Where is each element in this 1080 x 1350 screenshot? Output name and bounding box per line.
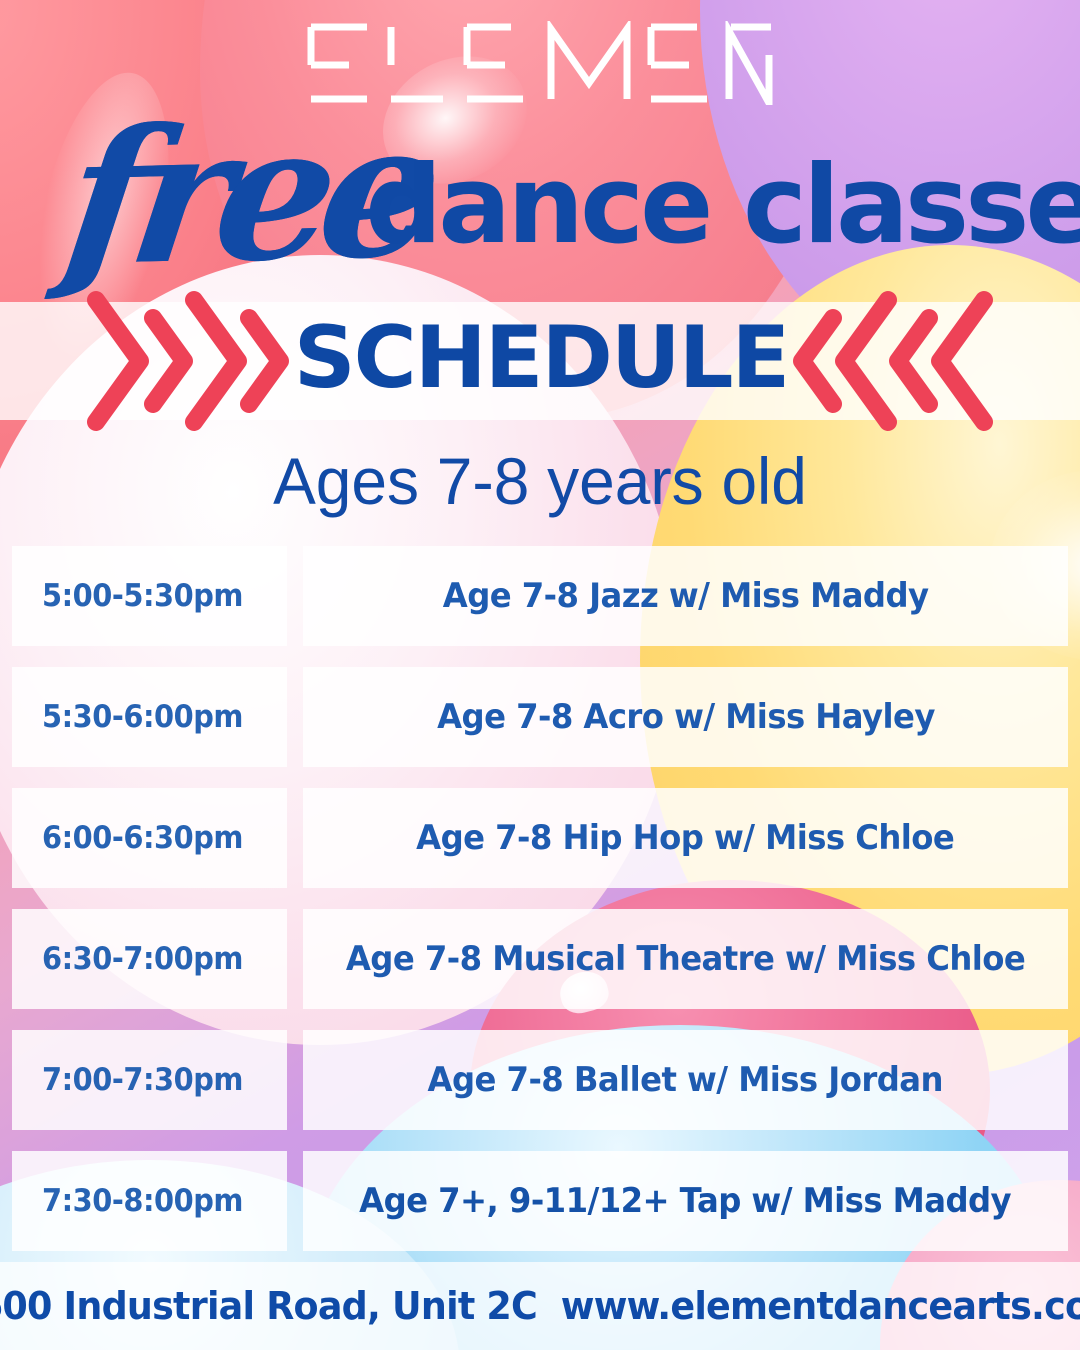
table-cell-time: 6:00-6:30pm [12, 788, 287, 888]
table-cell-time: 5:30-6:00pm [12, 667, 287, 767]
table-cell-class: Age 7-8 Jazz w/ Miss Maddy [303, 546, 1068, 646]
class-label: Age 7-8 Hip Hop w/ Miss Chloe [416, 818, 954, 858]
table-row: 6:00-6:30pm Age 7-8 Hip Hop w/ Miss Chlo… [0, 788, 1080, 888]
poster-canvas: free dance classes SCHEDULE [0, 0, 1080, 1350]
time-label: 7:00-7:30pm [42, 1062, 243, 1098]
class-label: Age 7-8 Acro w/ Miss Hayley [437, 697, 935, 737]
time-label: 7:30-8:00pm [42, 1183, 243, 1219]
table-row: 7:30-8:00pm Age 7+, 9-11/12+ Tap w/ Miss… [0, 1151, 1080, 1251]
table-cell-class: Age 7-8 Ballet w/ Miss Jordan [303, 1030, 1068, 1130]
class-label: Age 7+, 9-11/12+ Tap w/ Miss Maddy [360, 1181, 1012, 1221]
table-cell-time: 7:30-8:00pm [12, 1151, 287, 1251]
footer: 1600 Industrial Road, Unit 2C www.elemen… [0, 1262, 1080, 1350]
footer-website[interactable]: www.elementdancearts.com [561, 1284, 1080, 1328]
class-label: Age 7-8 Jazz w/ Miss Maddy [443, 576, 929, 616]
schedule-title: SCHEDULE [294, 315, 789, 407]
table-cell-class: Age 7-8 Acro w/ Miss Hayley [303, 667, 1068, 767]
schedule-banner: SCHEDULE [0, 278, 1080, 444]
headline-bold-word: dance classes [365, 152, 1080, 260]
table-cell-class: Age 7-8 Hip Hop w/ Miss Chloe [303, 788, 1068, 888]
chevrons-left-group [792, 286, 996, 436]
class-label: Age 7-8 Musical Theatre w/ Miss Chloe [346, 939, 1025, 979]
chevrons-right-group [84, 286, 290, 436]
class-label: Age 7-8 Ballet w/ Miss Jordan [428, 1060, 943, 1100]
table-cell-time: 7:00-7:30pm [12, 1030, 287, 1130]
time-label: 6:00-6:30pm [42, 820, 243, 856]
time-label: 5:30-6:00pm [42, 699, 243, 735]
table-row: 6:30-7:00pm Age 7-8 Musical Theatre w/ M… [0, 909, 1080, 1009]
table-row: 5:30-6:00pm Age 7-8 Acro w/ Miss Hayley [0, 667, 1080, 767]
time-label: 6:30-7:00pm [42, 941, 243, 977]
chevron-right-icon [238, 306, 290, 416]
table-cell-class: Age 7-8 Musical Theatre w/ Miss Chloe [303, 909, 1068, 1009]
table-row: 7:00-7:30pm Age 7-8 Ballet w/ Miss Jorda… [0, 1030, 1080, 1130]
time-label: 5:00-5:30pm [42, 578, 243, 614]
table-row: 5:00-5:30pm Age 7-8 Jazz w/ Miss Maddy [0, 546, 1080, 646]
chevron-left-icon [928, 286, 996, 436]
footer-address: 1600 Industrial Road, Unit 2C [0, 1284, 537, 1328]
table-cell-time: 5:00-5:30pm [12, 546, 287, 646]
table-cell-class: Age 7+, 9-11/12+ Tap w/ Miss Maddy [303, 1151, 1068, 1251]
age-group-subtitle: Ages 7-8 years old [16, 446, 1064, 516]
table-cell-time: 6:30-7:00pm [12, 909, 287, 1009]
schedule-table: 5:00-5:30pm Age 7-8 Jazz w/ Miss Maddy 5… [0, 546, 1080, 1272]
